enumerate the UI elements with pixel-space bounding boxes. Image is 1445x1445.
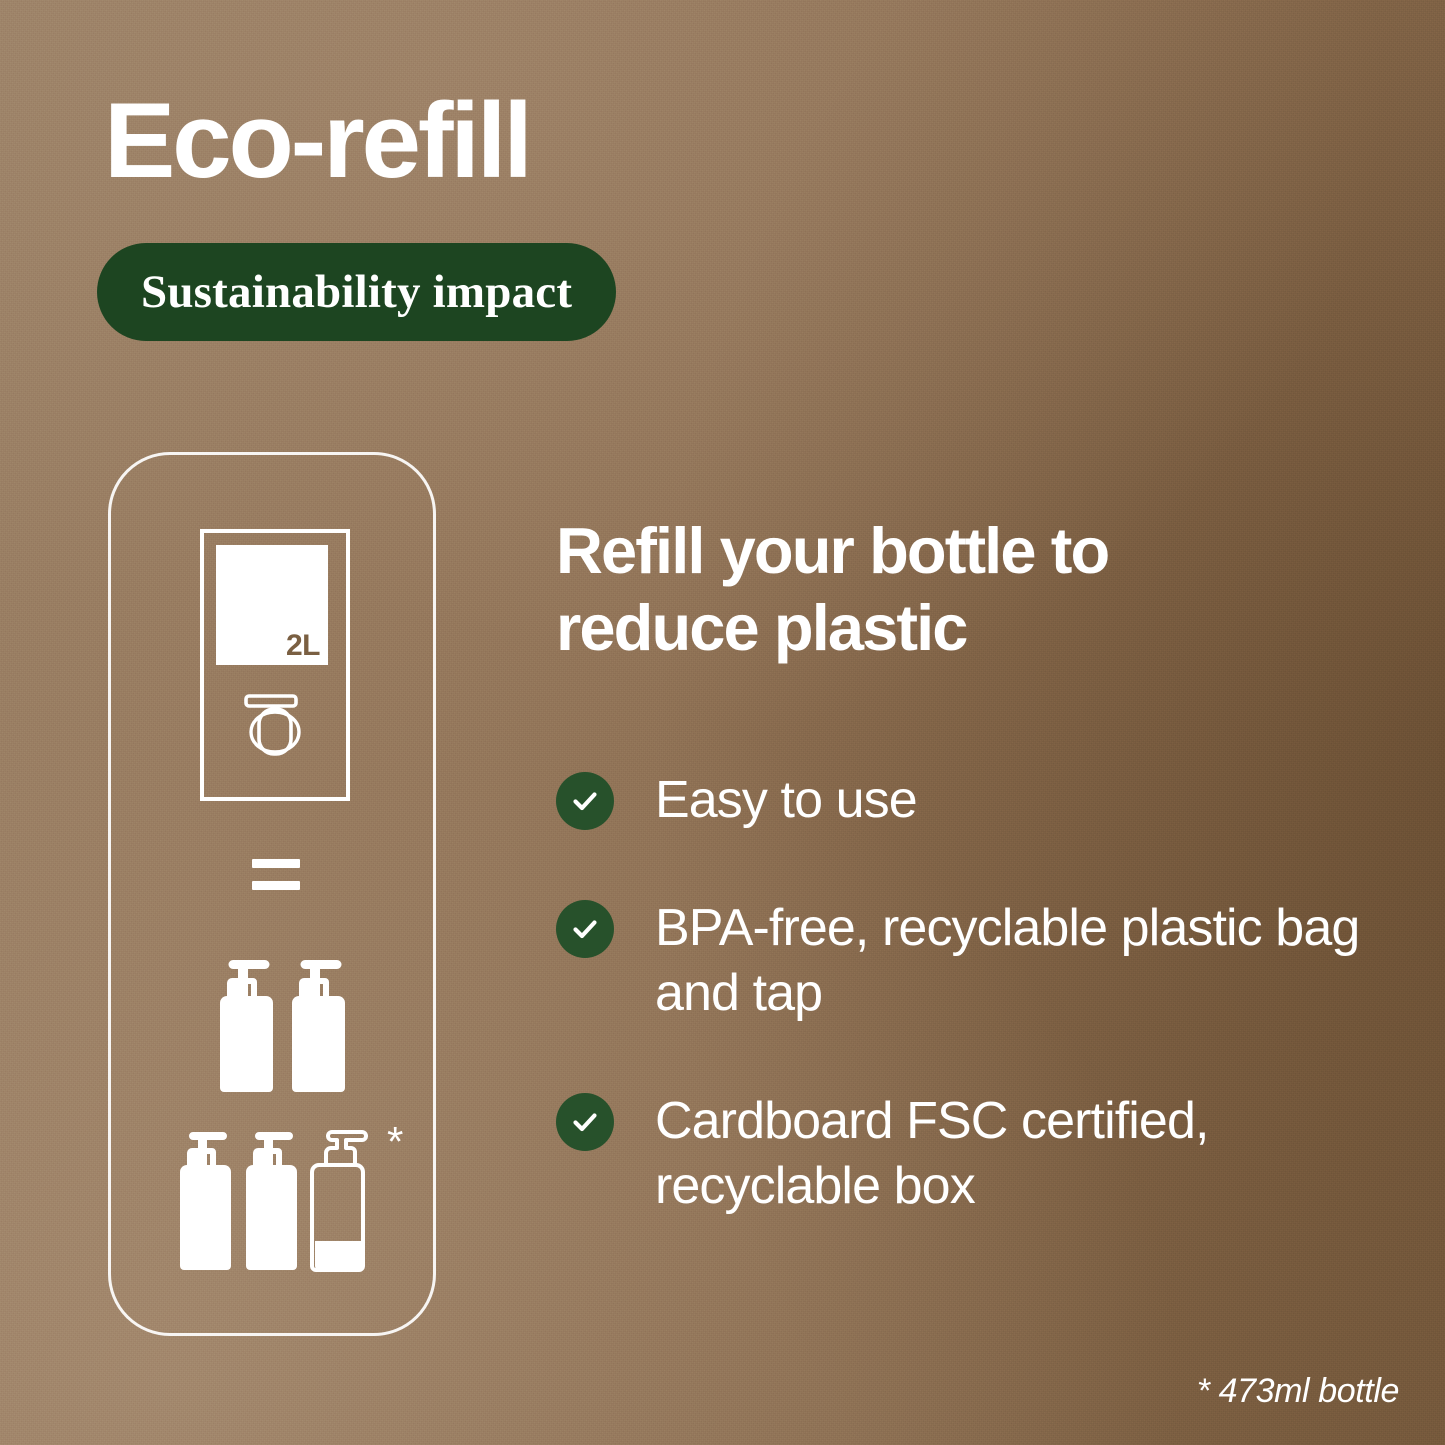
pump-bottle-icon xyxy=(246,1132,297,1270)
check-icon xyxy=(556,772,614,830)
outline-pump-bottle-icon xyxy=(312,1132,366,1270)
asterisk-marker: * xyxy=(387,1121,403,1163)
list-item-label: Easy to use xyxy=(655,768,917,832)
refill-carton-icon: 2L xyxy=(200,529,350,801)
sustainability-impact-badge: Sustainability impact xyxy=(97,243,616,341)
equals-bar-top xyxy=(252,859,300,868)
eco-refill-infographic: Eco-refill Sustainability impact 2L xyxy=(0,0,1445,1445)
check-icon xyxy=(556,1093,614,1151)
list-item: BPA-free, recyclable plastic bag and tap xyxy=(556,896,1391,1025)
equals-symbol xyxy=(252,859,300,890)
carton-volume-label: 2L xyxy=(286,629,320,663)
illustration-panel: 2L xyxy=(108,452,436,1336)
carton-label: 2L xyxy=(216,545,328,665)
feature-list: Easy to use BPA-free, recyclable plastic… xyxy=(556,768,1391,1218)
check-icon xyxy=(556,900,614,958)
list-item: Cardboard FSC certified, recyclable box xyxy=(556,1089,1391,1218)
pump-bottle-pair xyxy=(205,955,350,1095)
pump-bottle-icon xyxy=(180,1132,231,1270)
equals-bar-bottom xyxy=(252,881,300,890)
list-item: Easy to use xyxy=(556,768,1391,832)
pump-bottle-trio xyxy=(169,1127,384,1275)
list-item-label: BPA-free, recyclable plastic bag and tap xyxy=(655,896,1391,1025)
footnote: * 473ml bottle xyxy=(1197,1372,1399,1411)
headline: Refill your bottle to reduce plastic xyxy=(556,512,1316,667)
badge-label: Sustainability impact xyxy=(141,265,572,319)
tap-icon xyxy=(244,691,306,757)
page-title: Eco-refill xyxy=(104,84,530,196)
list-item-label: Cardboard FSC certified, recyclable box xyxy=(655,1089,1391,1218)
pump-bottle-icon xyxy=(220,960,273,1092)
pump-bottle-icon xyxy=(292,960,345,1092)
